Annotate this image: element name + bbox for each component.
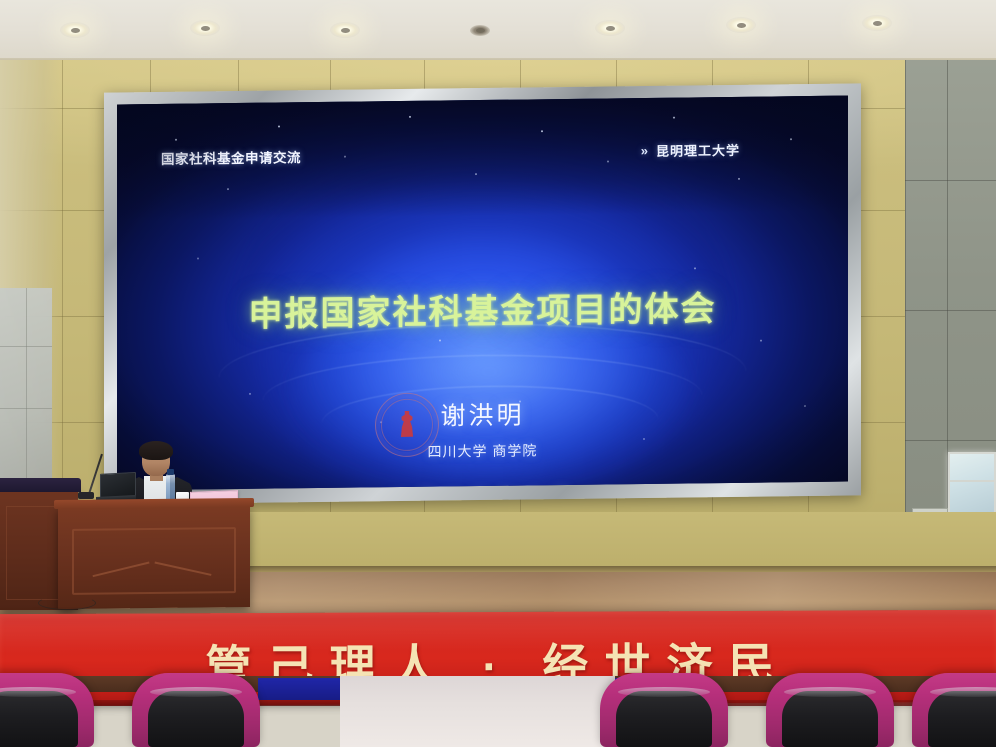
auditorium-chair[interactable] bbox=[600, 673, 728, 747]
table-top bbox=[54, 498, 254, 509]
auditorium-chair[interactable] bbox=[912, 673, 996, 747]
ceiling-spotlight-2 bbox=[190, 20, 220, 36]
ceiling-spotlight-6 bbox=[726, 17, 756, 33]
floor-cable bbox=[38, 596, 96, 610]
microphone-base bbox=[78, 492, 94, 499]
auditorium-chair[interactable] bbox=[766, 673, 894, 747]
lectern-top bbox=[0, 478, 81, 492]
lecture-hall-photo: 国家社科基金申请交流 » 昆明理工大学 申报国家社科基金项目的体会 谢洪明 四川… bbox=[0, 0, 996, 747]
slide-vignette bbox=[117, 96, 848, 491]
bottle-cap bbox=[167, 469, 174, 475]
presentation-slide[interactable]: 国家社科基金申请交流 » 昆明理工大学 申报国家社科基金项目的体会 谢洪明 四川… bbox=[117, 96, 848, 491]
ceiling-spotlight-3 bbox=[330, 22, 360, 38]
auditorium-chair[interactable] bbox=[0, 673, 94, 747]
auditorium-chair[interactable] bbox=[132, 673, 260, 747]
ceiling-spotlight-7 bbox=[862, 15, 892, 31]
ceiling-spotlight-5 bbox=[595, 20, 625, 36]
front-seat-row bbox=[0, 676, 996, 747]
presidium-table bbox=[58, 505, 250, 609]
side-window bbox=[948, 452, 996, 514]
presenter-hair bbox=[139, 441, 173, 460]
led-screen-frame: 国家社科基金申请交流 » 昆明理工大学 申报国家社科基金项目的体会 谢洪明 四川… bbox=[104, 83, 861, 504]
ceiling-spotlight-4 bbox=[470, 25, 490, 36]
laptop[interactable] bbox=[96, 472, 136, 502]
ceiling-spotlight-1 bbox=[60, 22, 90, 38]
left-wall-grey-unit bbox=[0, 288, 52, 488]
ceiling bbox=[0, 0, 996, 64]
